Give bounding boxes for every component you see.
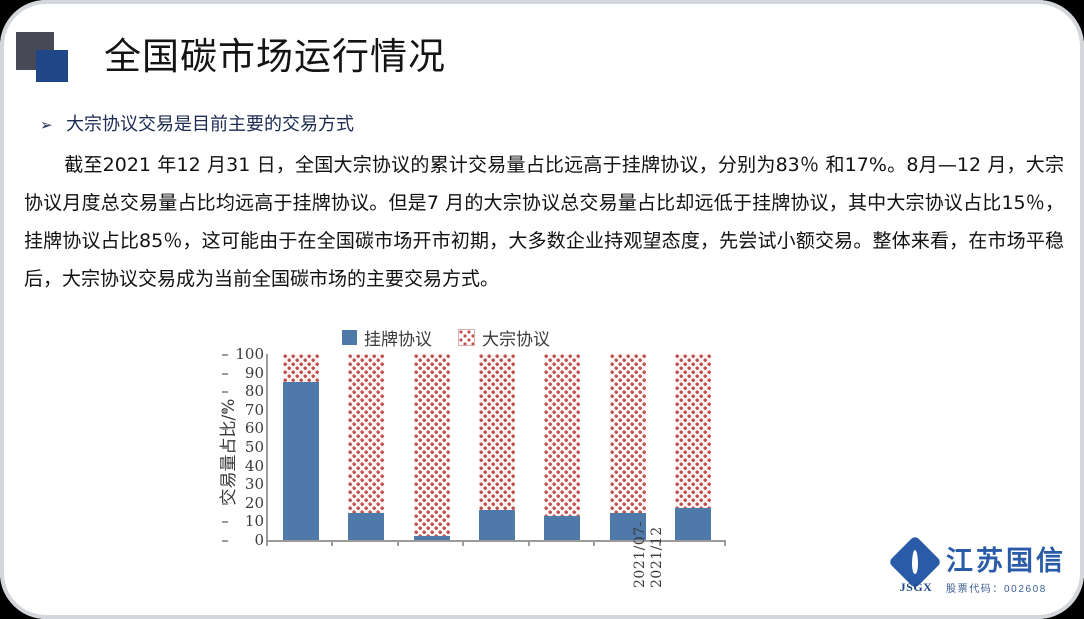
x-tick-label — [514, 548, 550, 619]
y-tick-label: 60 — [228, 419, 264, 437]
bar-segment-guapai — [283, 382, 319, 540]
chart-legend: 挂牌协议 大宗协议 — [342, 324, 550, 350]
y-tick-mark — [222, 521, 228, 523]
x-tick-mark — [724, 540, 726, 546]
x-tick-label — [278, 548, 314, 619]
bullet-line: ➢大宗协议交易是目前主要的交易方式 — [40, 110, 1040, 140]
chart-bar — [283, 354, 319, 540]
chart-bar — [348, 354, 384, 540]
y-axis-ticks: 0102030405060708090100 — [228, 345, 264, 531]
bar-segment-dazong — [283, 354, 319, 382]
x-tick-mark — [397, 540, 399, 546]
x-tick-mark — [266, 540, 268, 546]
y-tick-label: 50 — [228, 438, 264, 456]
paragraph-text: 截至2021 年12 月31 日，全国大宗协议的累计交易量占比远高于挂牌协议，分… — [24, 154, 1064, 290]
y-tick-label: 10 — [228, 512, 264, 530]
chart-bar — [414, 354, 450, 540]
bar-segment-guapai — [544, 516, 580, 540]
y-tick-mark — [222, 540, 228, 542]
bar-segment-dazong — [675, 354, 711, 508]
y-tick-label: 70 — [228, 401, 264, 419]
y-tick-mark — [222, 354, 228, 356]
y-tick-label: 80 — [228, 382, 264, 400]
legend-item-blue: 挂牌协议 — [342, 325, 432, 350]
header-square-blue-icon — [36, 50, 68, 82]
legend-item-red: 大宗协议 — [458, 325, 550, 350]
bar-segment-dazong — [479, 354, 515, 510]
legend-label-red: 大宗协议 — [482, 325, 550, 350]
x-axis-labels: 2021/07-2021/12 — [266, 548, 724, 619]
x-tick-mark — [593, 540, 595, 546]
y-tick-mark — [222, 391, 228, 393]
y-tick-mark — [222, 447, 228, 449]
y-tick-label: 20 — [228, 494, 264, 512]
slide-header: 全国碳市场运行情况 — [0, 0, 1084, 100]
logo-abbreviation: JSGX — [894, 580, 938, 595]
y-tick-mark — [222, 373, 228, 375]
chart-bar — [544, 354, 580, 540]
y-tick-mark — [222, 484, 228, 486]
x-tick-label — [573, 548, 609, 619]
bar-segment-dazong — [544, 354, 580, 516]
x-tick-mark — [462, 540, 464, 546]
y-tick-mark — [222, 410, 228, 412]
bar-segment-dazong — [348, 354, 384, 513]
legend-label-blue: 挂牌协议 — [364, 325, 432, 350]
x-tick-label — [396, 548, 432, 619]
bar-segment-guapai — [348, 513, 384, 540]
chart: 挂牌协议 大宗协议 交易量占比/% 0102030405060708090100… — [190, 324, 750, 614]
x-tick-label — [337, 548, 373, 619]
x-tick-mark — [331, 540, 333, 546]
chart-bar — [479, 354, 515, 540]
y-tick-mark — [222, 428, 228, 430]
y-tick-label: 0 — [228, 531, 264, 549]
legend-swatch-blue-icon — [342, 330, 357, 345]
logo-text-block: 江苏国信 股票代码：002608 — [946, 547, 1066, 595]
logo-stock-code: 股票代码：002608 — [946, 580, 1066, 595]
x-tick-mark — [528, 540, 530, 546]
bar-segment-dazong — [610, 354, 646, 513]
y-tick-mark — [222, 503, 228, 505]
bar-segment-guapai — [479, 510, 515, 540]
y-tick-label: 100 — [228, 345, 264, 363]
y-tick-label: 30 — [228, 475, 264, 493]
logo-diamond-icon: JSGX — [894, 543, 938, 595]
x-tick-label — [455, 548, 491, 619]
bullet-arrow-icon: ➢ — [40, 112, 66, 140]
y-tick-label: 40 — [228, 457, 264, 475]
body-paragraph: 截至2021 年12 月31 日，全国大宗协议的累计交易量占比远高于挂牌协议，分… — [24, 146, 1064, 298]
x-tick-label: 2021/07-2021/12 — [632, 508, 710, 588]
company-logo: JSGX 江苏国信 股票代码：002608 — [894, 543, 1066, 595]
slide-canvas: 全国碳市场运行情况 ➢大宗协议交易是目前主要的交易方式 截至2021 年12 月… — [0, 0, 1084, 619]
y-tick-label: 90 — [228, 364, 264, 382]
legend-swatch-red-icon — [458, 329, 475, 346]
bullet-text: 大宗协议交易是目前主要的交易方式 — [66, 114, 354, 134]
bar-segment-dazong — [414, 354, 450, 536]
page-title: 全国碳市场运行情况 — [104, 36, 446, 78]
y-tick-mark — [222, 466, 228, 468]
logo-company-name: 江苏国信 — [946, 547, 1066, 577]
